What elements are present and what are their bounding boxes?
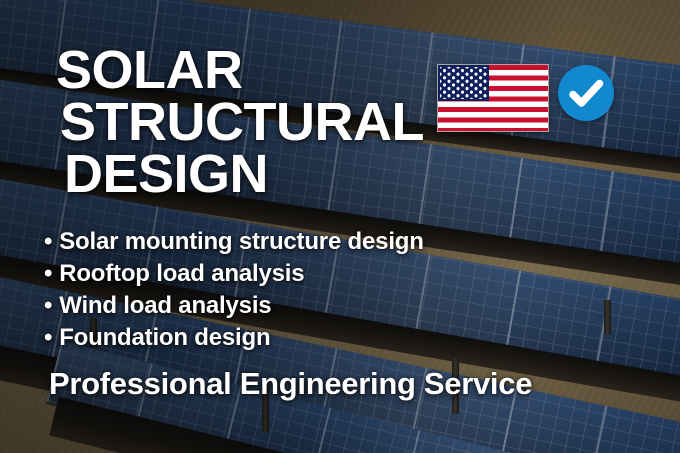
bullet-dot-icon: • [44, 290, 52, 322]
list-item: • Wind load analysis [44, 290, 424, 322]
feature-list: • Solar mounting structure design • Roof… [44, 226, 424, 354]
banner-canvas: SOLAR STRUCTURAL DESIGN • Solar mounting… [0, 0, 680, 453]
content-layer: SOLAR STRUCTURAL DESIGN • Solar mounting… [0, 0, 680, 453]
title-line-2: STRUCTURAL [56, 96, 456, 148]
list-item: • Solar mounting structure design [44, 226, 424, 258]
bullet-dot-icon: • [44, 258, 52, 290]
verified-check-icon [558, 65, 614, 121]
list-item-label: Solar mounting structure design [59, 226, 424, 258]
bullet-dot-icon: • [44, 226, 52, 258]
title-line-1: SOLAR [56, 44, 456, 96]
title-line-3: DESIGN [56, 148, 456, 200]
tagline: Professional Engineering Service [49, 366, 532, 402]
flag-canton [438, 65, 489, 101]
list-item-label: Wind load analysis [59, 290, 271, 322]
list-item-label: Rooftop load analysis [59, 258, 304, 290]
list-item: • Rooftop load analysis [44, 258, 424, 290]
page-title: SOLAR STRUCTURAL DESIGN [56, 44, 456, 200]
flag-stars [440, 67, 487, 99]
bullet-dot-icon: • [44, 322, 52, 354]
list-item: • Foundation design [44, 322, 424, 354]
list-item-label: Foundation design [59, 322, 270, 354]
us-flag-icon [437, 64, 549, 132]
